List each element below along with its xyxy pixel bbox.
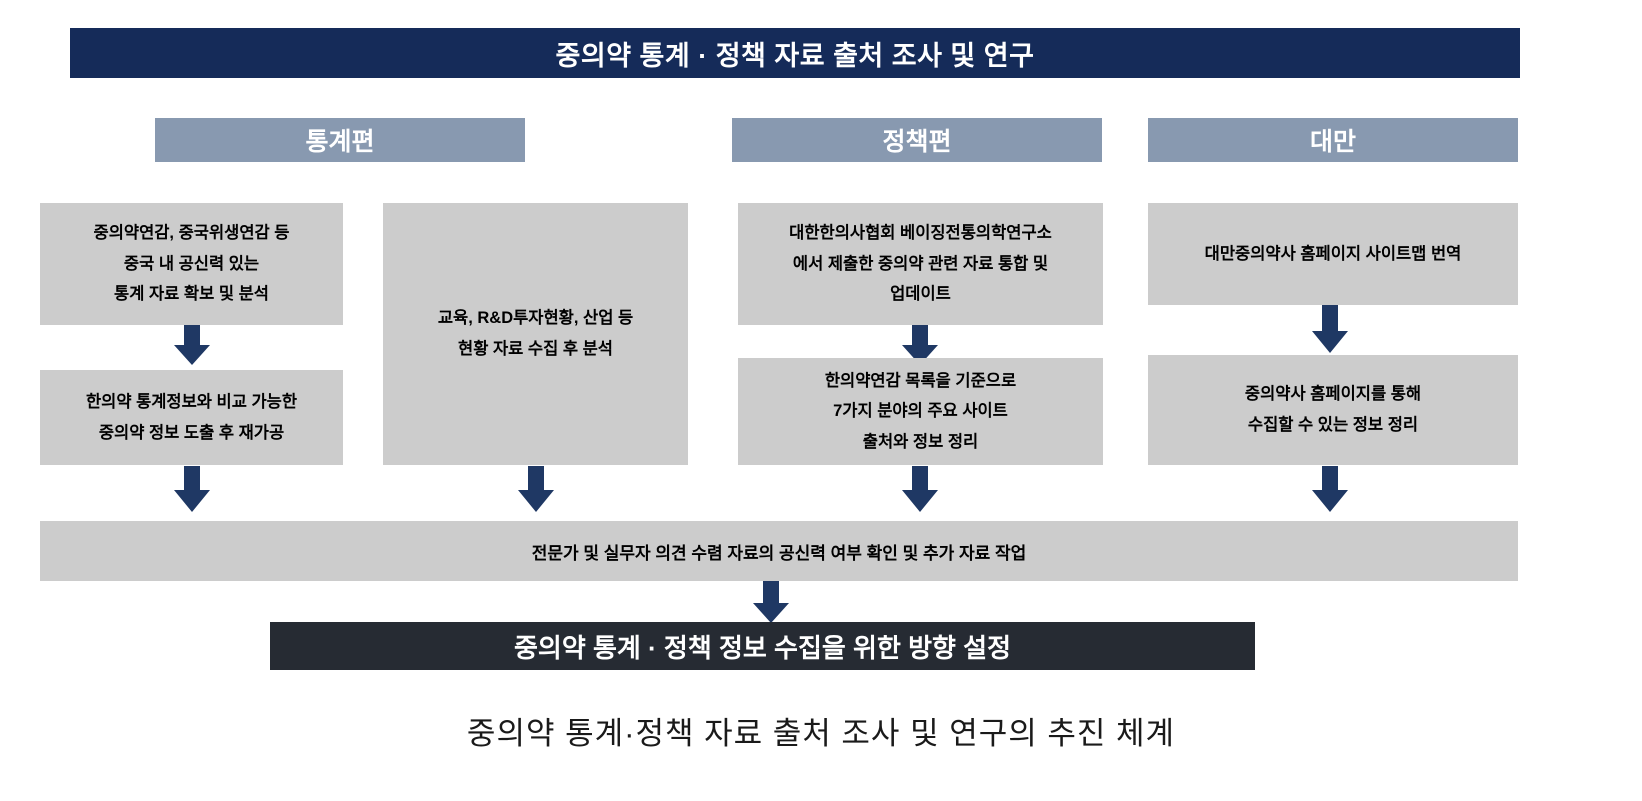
result-banner: 중의약 통계 · 정책 정보 수집을 위한 방향 설정 <box>270 622 1255 670</box>
arrow-down-icon <box>172 325 212 365</box>
policy-box-2: 한의약연감 목록을 기준으로 7가지 분야의 주요 사이트 출처와 정보 정리 <box>738 358 1103 465</box>
figure-caption-text: 중의약 통계·정책 자료 출처 조사 및 연구의 추진 체계 <box>467 716 1175 751</box>
column-header-statistics-label: 통계편 <box>305 122 374 158</box>
arrow-down-icon <box>1310 305 1350 353</box>
arrow-down-icon <box>1310 466 1350 512</box>
column-header-policy-label: 정책편 <box>882 122 951 158</box>
taiwan-box-1: 대만중의약사 홈페이지 사이트맵 번역 <box>1148 203 1518 305</box>
policy-box-1-line-3: 업데이트 <box>748 279 1093 310</box>
policy-box-2-line-1: 한의약연감 목록을 기준으로 <box>748 366 1093 397</box>
arrow-down-icon <box>172 466 212 512</box>
statistics-box-3: 교육, R&D투자현황, 산업 등 현황 자료 수집 후 분석 <box>383 203 688 465</box>
title-banner: 중의약 통계 · 정책 자료 출처 조사 및 연구 <box>70 28 1520 78</box>
statistics-box-1-line-3: 통계 자료 확보 및 분석 <box>50 279 333 310</box>
merge-bar-text: 전문가 및 실무자 의견 수렴 자료의 공신력 여부 확인 및 추가 자료 작업 <box>532 539 1027 564</box>
arrow-down-icon <box>751 581 791 623</box>
policy-box-1: 대한한의사협회 베이징전통의학연구소 에서 제출한 중의약 관련 자료 통합 및… <box>738 203 1103 325</box>
policy-box-2-line-2: 7가지 분야의 주요 사이트 <box>748 396 1093 427</box>
merge-bar: 전문가 및 실무자 의견 수렴 자료의 공신력 여부 확인 및 추가 자료 작업 <box>40 521 1518 581</box>
column-header-statistics: 통계편 <box>155 118 525 162</box>
column-header-taiwan-label: 대만 <box>1310 122 1356 158</box>
taiwan-box-1-line-1: 대만중의약사 홈페이지 사이트맵 번역 <box>1158 239 1508 270</box>
diagram-canvas: 중의약 통계 · 정책 자료 출처 조사 및 연구 통계편 정책편 대만 중의약… <box>0 0 1642 801</box>
statistics-box-1-line-2: 중국 내 공신력 있는 <box>50 249 333 280</box>
statistics-box-1-line-1: 중의약연감, 중국위생연감 등 <box>50 218 333 249</box>
taiwan-box-2-line-2: 수집할 수 있는 정보 정리 <box>1158 410 1508 441</box>
column-header-policy: 정책편 <box>732 118 1102 162</box>
arrow-down-icon <box>516 466 556 512</box>
title-banner-text: 중의약 통계 · 정책 자료 출처 조사 및 연구 <box>556 34 1035 73</box>
taiwan-box-2: 중의약사 홈페이지를 통해 수집할 수 있는 정보 정리 <box>1148 355 1518 465</box>
statistics-box-3-line-2: 현황 자료 수집 후 분석 <box>393 334 678 365</box>
arrow-down-icon <box>900 466 940 512</box>
statistics-box-2-line-1: 한의약 통계정보와 비교 가능한 <box>50 387 333 418</box>
statistics-box-3-line-1: 교육, R&D투자현황, 산업 등 <box>393 303 678 334</box>
taiwan-box-2-line-1: 중의약사 홈페이지를 통해 <box>1158 379 1508 410</box>
column-header-taiwan: 대만 <box>1148 118 1518 162</box>
policy-box-2-line-3: 출처와 정보 정리 <box>748 427 1093 458</box>
policy-box-1-line-1: 대한한의사협회 베이징전통의학연구소 <box>748 218 1093 249</box>
statistics-box-2: 한의약 통계정보와 비교 가능한 중의약 정보 도출 후 재가공 <box>40 370 343 465</box>
figure-caption: 중의약 통계·정책 자료 출처 조사 및 연구의 추진 체계 <box>0 708 1642 753</box>
statistics-box-1: 중의약연감, 중국위생연감 등 중국 내 공신력 있는 통계 자료 확보 및 분… <box>40 203 343 325</box>
statistics-box-2-line-2: 중의약 정보 도출 후 재가공 <box>50 418 333 449</box>
policy-box-1-line-2: 에서 제출한 중의약 관련 자료 통합 및 <box>748 249 1093 280</box>
result-banner-text: 중의약 통계 · 정책 정보 수집을 위한 방향 설정 <box>514 628 1011 665</box>
